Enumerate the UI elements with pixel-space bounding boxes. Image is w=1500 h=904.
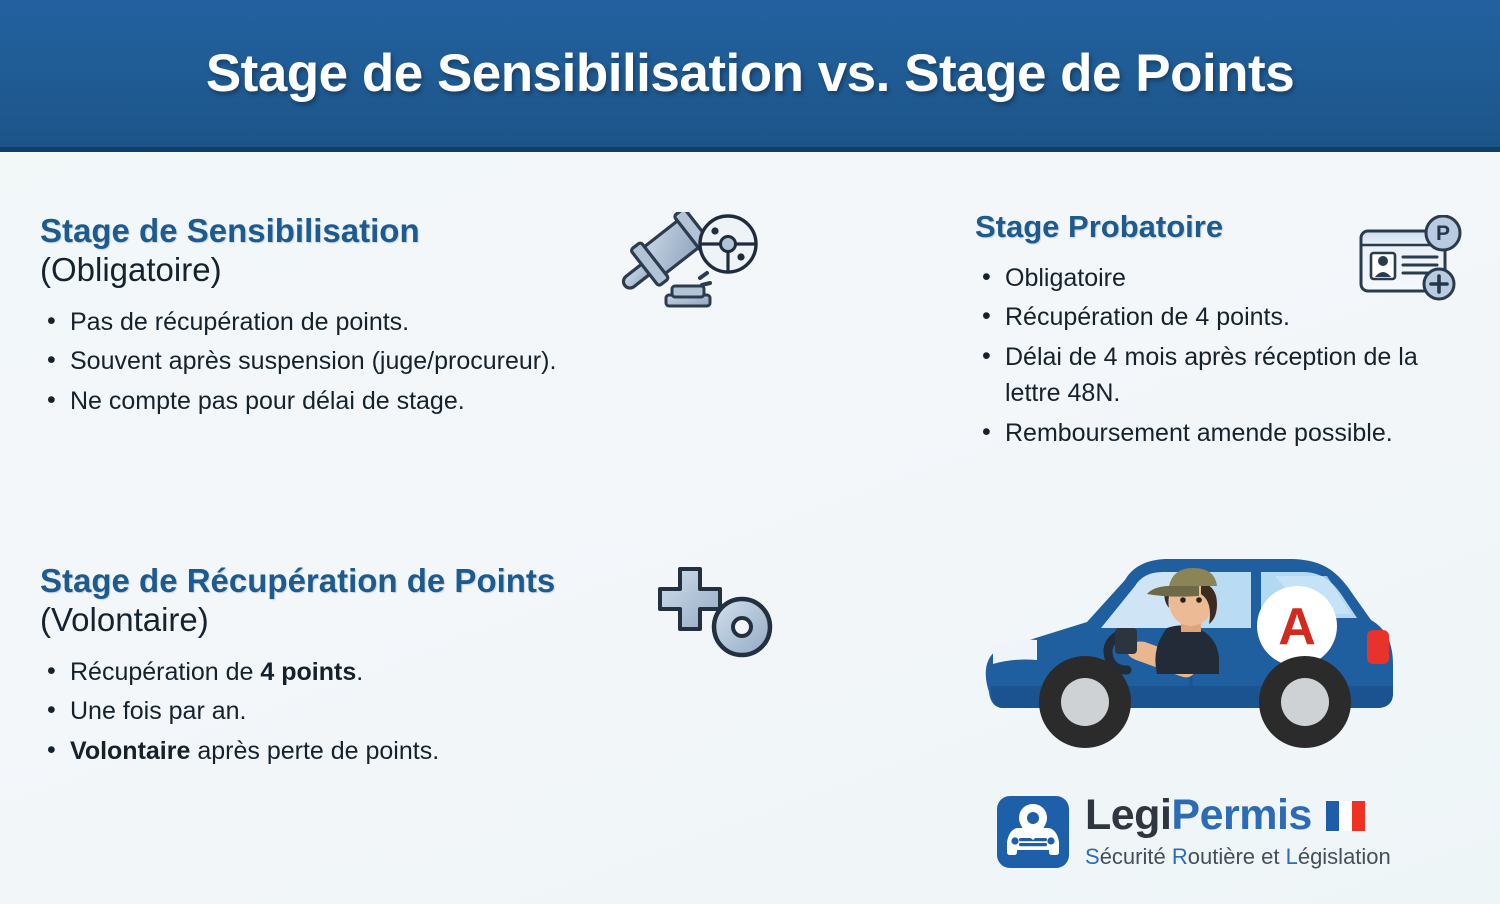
car-location-pin-icon: [997, 796, 1069, 868]
right-column: Stage Probatoire Obligatoire Récupératio…: [965, 157, 1465, 904]
heading-bold-part: Stage de Récupération de Points: [40, 562, 555, 599]
list-item: Une fois par an.: [40, 693, 740, 730]
section-stage-recuperation: Stage de Récupération de Points (Volonta…: [40, 562, 740, 772]
list-item: Volontaire après perte de points.: [40, 733, 740, 770]
list-item: Remboursement amende possible.: [975, 415, 1465, 452]
left-column: Stage de Sensibilisation (Obligatoire) P…: [40, 157, 750, 904]
legipermis-logo[interactable]: LegiPermis Sécurité Routière et Législat…: [997, 782, 1447, 882]
list-item: Souvent après suspension (juge/procureur…: [40, 343, 740, 380]
logo-name-row: LegiPermis: [1085, 794, 1391, 837]
plus-disc-icon: [650, 557, 785, 667]
heading-normal-part: (Obligatoire): [40, 251, 222, 288]
logo-name-part2: Permis: [1171, 794, 1311, 837]
list-item: Récupération de 4 points.: [40, 654, 740, 691]
bullet-list-recuperation: Récupération de 4 points.Une fois par an…: [40, 654, 740, 770]
gavel-steering-wheel-icon: [610, 212, 775, 312]
list-item: Délai de 4 mois après réception de la le…: [975, 339, 1465, 412]
bullet-list-sensibilisation: Pas de récupération de points. Souvent a…: [40, 304, 740, 420]
license-card-p-plus-icon: P: [1355, 215, 1465, 305]
svg-text:P: P: [1436, 222, 1450, 245]
section-heading-sensibilisation: Stage de Sensibilisation (Obligatoire): [40, 212, 600, 290]
french-flag-icon: [1326, 801, 1365, 831]
logo-text-block: LegiPermis Sécurité Routière et Législat…: [1085, 794, 1391, 870]
logo-tagline: Sécurité Routière et Législation: [1085, 844, 1391, 870]
young-driver-car-illustration: A: [975, 542, 1405, 752]
heading-bold-part: Stage Probatoire: [975, 209, 1223, 244]
page-header: Stage de Sensibilisation vs. Stage de Po…: [0, 0, 1500, 152]
heading-bold-part: Stage de Sensibilisation: [40, 212, 420, 249]
heading-normal-part: (Volontaire): [40, 601, 209, 638]
page-title: Stage de Sensibilisation vs. Stage de Po…: [206, 43, 1294, 104]
logo-name-part1: Legi: [1085, 794, 1171, 837]
content-area: Stage de Sensibilisation (Obligatoire) P…: [0, 157, 1500, 904]
section-heading-recuperation: Stage de Récupération de Points (Volonta…: [40, 562, 600, 640]
a-badge-letter: A: [1278, 598, 1316, 656]
list-item: Ne compte pas pour délai de stage.: [40, 383, 740, 420]
